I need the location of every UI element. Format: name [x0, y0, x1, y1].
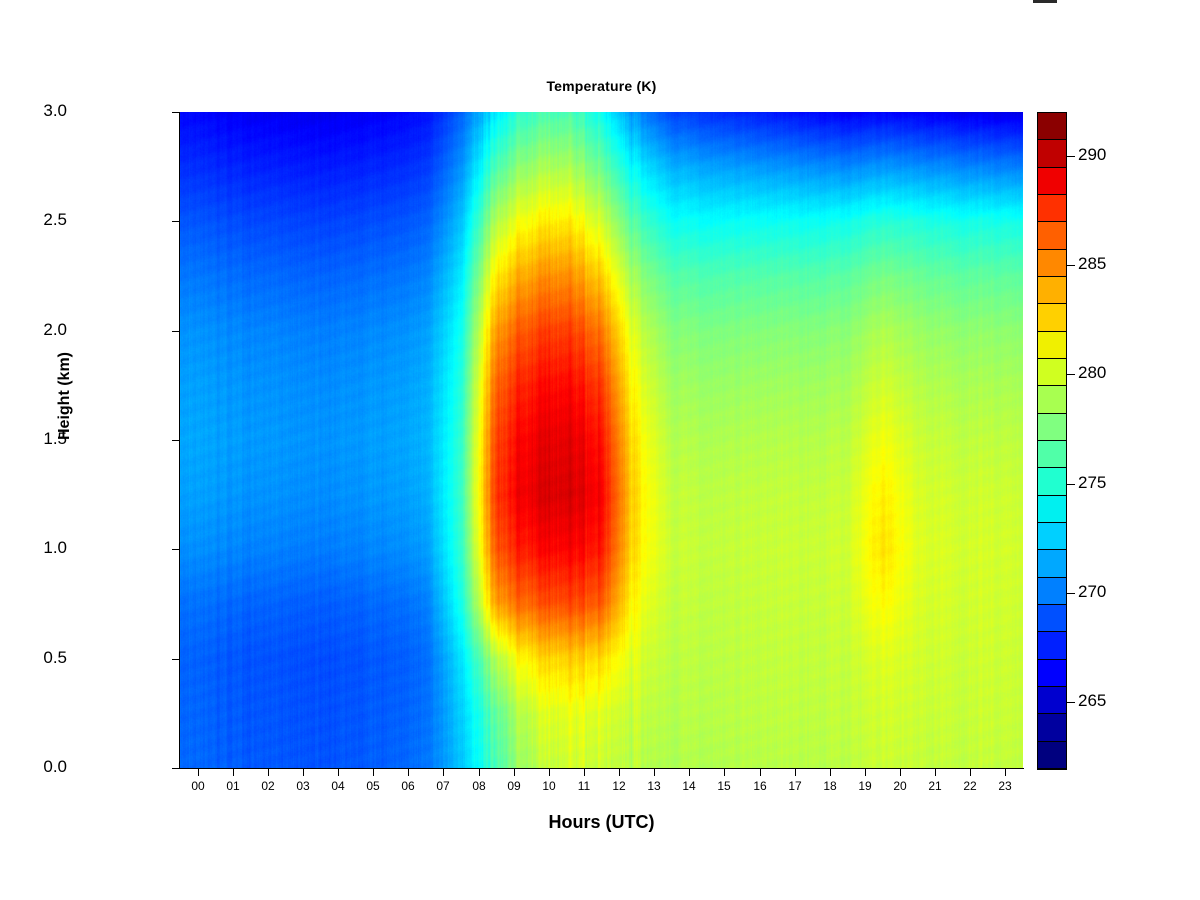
colorbar-tick-label: 285: [1078, 254, 1106, 274]
y-tick-label: 1.0: [43, 538, 67, 558]
colorbar-tick-label: 275: [1078, 473, 1106, 493]
x-tick-label: 11: [569, 779, 599, 793]
x-tick-mark: [900, 769, 901, 776]
x-tick-label: 04: [323, 779, 353, 793]
x-tick-label: 15: [709, 779, 739, 793]
colorbar-band: [1038, 605, 1066, 632]
x-tick-mark: [338, 769, 339, 776]
x-tick-mark: [198, 769, 199, 776]
colorbar-band: [1038, 168, 1066, 195]
colorbar-band: [1038, 414, 1066, 441]
colorbar-band: [1038, 304, 1066, 331]
y-tick-label: 0.5: [43, 648, 67, 668]
colorbar-tick-mark: [1067, 265, 1075, 266]
x-tick-label: 05: [358, 779, 388, 793]
y-tick-label: 0.0: [43, 757, 67, 777]
x-tick-mark: [724, 769, 725, 776]
colorbar-tick-label: 280: [1078, 363, 1106, 383]
colorbar-band: [1038, 687, 1066, 714]
y-tick-label: 2.5: [43, 210, 67, 230]
colorbar-band: [1038, 660, 1066, 687]
x-tick-mark: [689, 769, 690, 776]
colorbar-band: [1038, 386, 1066, 413]
colorbar-tick-mark: [1067, 156, 1075, 157]
colorbar-band: [1038, 468, 1066, 495]
x-tick-mark: [865, 769, 866, 776]
x-tick-label: 21: [920, 779, 950, 793]
temperature-time-height-figure: Temperature (K) 0.00.51.01.52.02.53.0 00…: [0, 0, 1200, 900]
x-tick-label: 13: [639, 779, 669, 793]
colorbar-band: [1038, 332, 1066, 359]
x-tick-mark: [549, 769, 550, 776]
top-edge-artifact: [1033, 0, 1057, 3]
y-tick-mark: [172, 112, 179, 113]
x-tick-mark: [303, 769, 304, 776]
colorbar-band: [1038, 250, 1066, 277]
x-tick-label: 00: [183, 779, 213, 793]
x-tick-mark: [619, 769, 620, 776]
y-axis-label: Height (km): [56, 240, 74, 440]
colorbar-band: [1038, 742, 1066, 769]
x-tick-label: 03: [288, 779, 318, 793]
x-tick-label: 01: [218, 779, 248, 793]
x-tick-mark: [970, 769, 971, 776]
x-tick-label: 23: [990, 779, 1020, 793]
x-tick-label: 07: [428, 779, 458, 793]
x-axis-line: [179, 768, 1024, 769]
colorbar-tick-mark: [1067, 702, 1075, 703]
y-tick-mark: [172, 221, 179, 222]
x-tick-mark: [760, 769, 761, 776]
colorbar-band: [1038, 277, 1066, 304]
x-tick-mark: [479, 769, 480, 776]
x-tick-mark: [408, 769, 409, 776]
x-tick-label: 09: [499, 779, 529, 793]
y-tick-mark: [172, 549, 179, 550]
x-tick-label: 06: [393, 779, 423, 793]
x-tick-label: 17: [780, 779, 810, 793]
x-tick-mark: [584, 769, 585, 776]
colorbar-band: [1038, 496, 1066, 523]
x-tick-label: 19: [850, 779, 880, 793]
x-tick-label: 12: [604, 779, 634, 793]
temperature-heatmap: [180, 112, 1023, 768]
colorbar-band: [1038, 632, 1066, 659]
y-tick-mark: [172, 331, 179, 332]
x-tick-mark: [233, 769, 234, 776]
colorbar-band: [1038, 441, 1066, 468]
x-tick-label: 10: [534, 779, 564, 793]
colorbar-tick-mark: [1067, 374, 1075, 375]
x-tick-label: 14: [674, 779, 704, 793]
colorbar: [1037, 112, 1067, 770]
y-tick-mark: [172, 659, 179, 660]
y-tick-mark: [172, 440, 179, 441]
colorbar-tick-label: 270: [1078, 582, 1106, 602]
x-tick-label: 08: [464, 779, 494, 793]
colorbar-tick-mark: [1067, 484, 1075, 485]
x-tick-mark: [795, 769, 796, 776]
x-tick-label: 22: [955, 779, 985, 793]
colorbar-band: [1038, 523, 1066, 550]
x-tick-label: 20: [885, 779, 915, 793]
x-tick-mark: [443, 769, 444, 776]
x-tick-mark: [1005, 769, 1006, 776]
y-tick-mark: [172, 768, 179, 769]
colorbar-band: [1038, 578, 1066, 605]
x-tick-mark: [830, 769, 831, 776]
heatmap-plot-area: [180, 112, 1023, 768]
x-tick-mark: [654, 769, 655, 776]
colorbar-band: [1038, 195, 1066, 222]
x-tick-mark: [268, 769, 269, 776]
x-tick-mark: [935, 769, 936, 776]
y-axis-line: [179, 112, 180, 769]
x-tick-label: 16: [745, 779, 775, 793]
colorbar-tick-label: 290: [1078, 145, 1106, 165]
page-title: Temperature (K): [180, 78, 1023, 94]
colorbar-tick-label: 265: [1078, 691, 1106, 711]
x-tick-label: 18: [815, 779, 845, 793]
x-tick-mark: [514, 769, 515, 776]
x-tick-label: 02: [253, 779, 283, 793]
colorbar-band: [1038, 359, 1066, 386]
colorbar-band: [1038, 714, 1066, 741]
colorbar-band: [1038, 140, 1066, 167]
colorbar-band: [1038, 550, 1066, 577]
x-tick-mark: [373, 769, 374, 776]
colorbar-band: [1038, 222, 1066, 249]
colorbar-tick-mark: [1067, 593, 1075, 594]
x-axis-label: Hours (UTC): [180, 812, 1023, 833]
y-tick-label: 3.0: [43, 101, 67, 121]
colorbar-band: [1038, 113, 1066, 140]
